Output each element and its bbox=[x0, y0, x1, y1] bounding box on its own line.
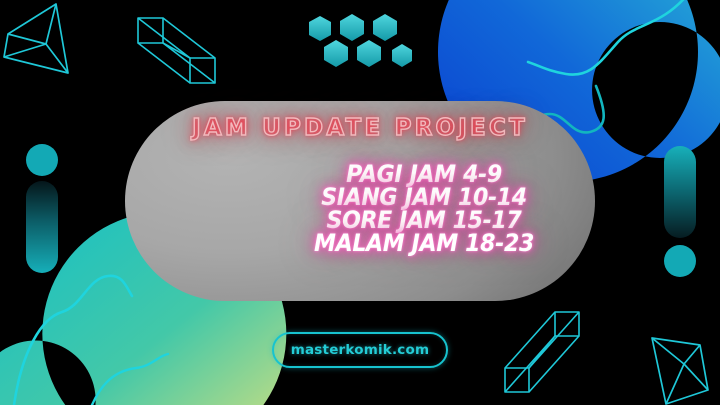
wireframe-pyramid-bottom-right bbox=[652, 338, 708, 404]
letter-i-dot bbox=[26, 144, 58, 176]
letter-i-stem bbox=[26, 181, 58, 273]
cyan-wave-inner-left bbox=[92, 354, 168, 405]
website-url-text: masterkomik.com bbox=[274, 334, 446, 366]
wireframe-beam-bottom-right bbox=[505, 312, 579, 392]
page-title: JAM UPDATE PROJECT bbox=[125, 115, 595, 141]
schedule-item-malam: MALAM JAM 18-23 bbox=[287, 232, 561, 255]
wireframe-pyramid-top-left bbox=[4, 4, 68, 73]
content-panel: JAM UPDATE PROJECT PAGI JAM 4-9 SIANG JA… bbox=[125, 101, 595, 301]
exclamation-stem bbox=[664, 146, 696, 238]
exclamation-dot bbox=[664, 245, 696, 277]
cyan-wave-bottom-left bbox=[14, 276, 132, 405]
wireframe-beam-top-left bbox=[138, 18, 215, 83]
website-url-badge[interactable]: masterkomik.com bbox=[272, 332, 448, 368]
hexagon-cluster-top bbox=[309, 14, 412, 67]
schedule-list: PAGI JAM 4-9 SIANG JAM 10-14 SORE JAM 15… bbox=[275, 163, 573, 255]
cyan-wave-top-right bbox=[528, 0, 690, 75]
poster-canvas: JAM UPDATE PROJECT PAGI JAM 4-9 SIANG JA… bbox=[0, 0, 720, 405]
